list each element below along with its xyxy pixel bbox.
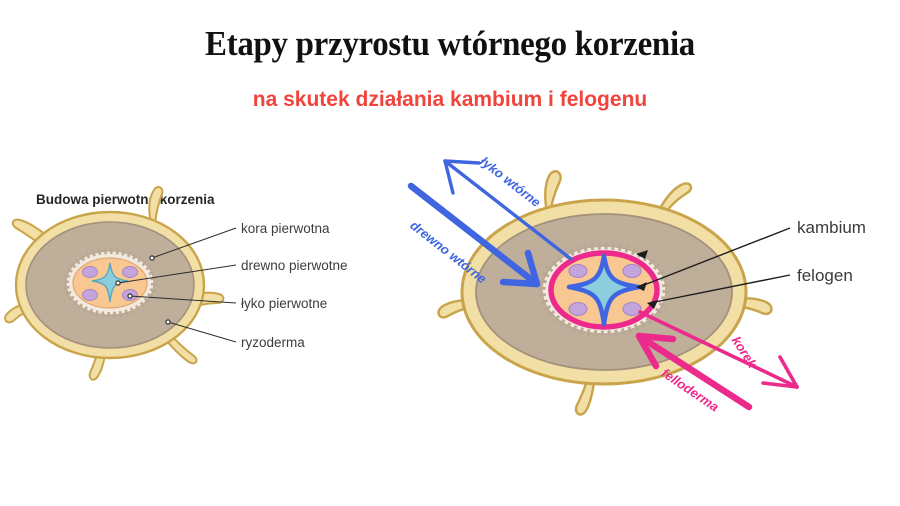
label-felogen: felogen	[797, 266, 853, 286]
diagram-canvas: Etapy przyrostu wtórnego korzenia na sku…	[0, 0, 900, 506]
label-kambium: kambium	[797, 218, 866, 238]
